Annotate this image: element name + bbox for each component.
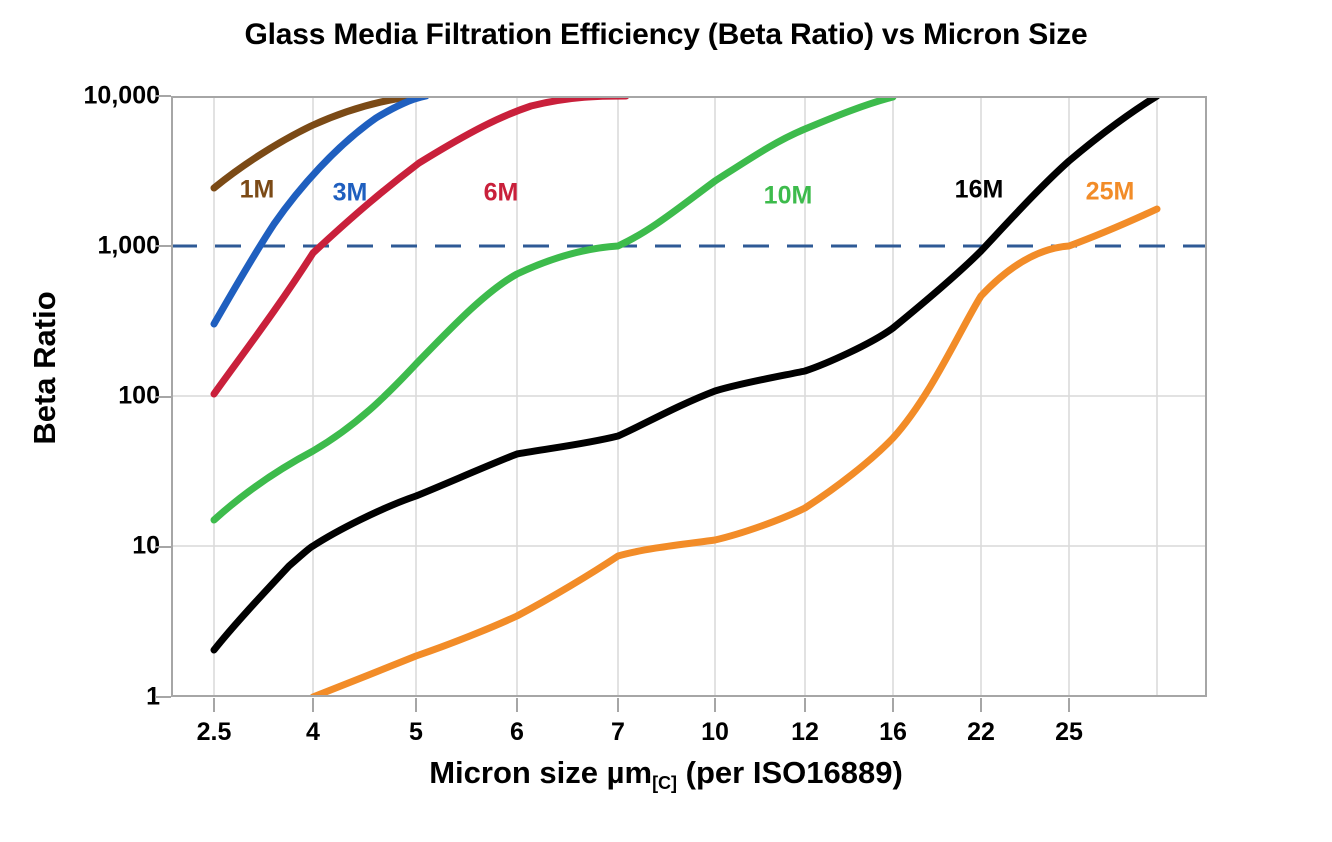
x-tick-label-6: 6 <box>510 718 524 747</box>
x-tickmark-7 <box>617 698 619 712</box>
x-axis-title: Micron size µm[C] (per ISO16889) <box>0 755 1332 794</box>
x-tick-label-12: 12 <box>791 718 819 747</box>
series-label-16m: 16M <box>955 176 1004 205</box>
x-tickmark-4 <box>312 698 314 712</box>
x-axis-title-main: Micron size µm <box>429 755 652 790</box>
x-tick-label-5: 5 <box>409 718 423 747</box>
x-tick-label-2-5: 2.5 <box>197 718 232 747</box>
series-label-25m: 25M <box>1086 178 1135 207</box>
x-tick-label-22: 22 <box>967 718 995 747</box>
y-tickmark-10 <box>155 546 171 548</box>
chart-page: Glass Media Filtration Efficiency (Beta … <box>0 0 1332 842</box>
x-tick-label-25: 25 <box>1055 718 1083 747</box>
x-tickmark-22 <box>980 698 982 712</box>
series-label-1m: 1M <box>240 176 275 205</box>
x-tick-label-16: 16 <box>879 718 907 747</box>
page-title: Glass Media Filtration Efficiency (Beta … <box>0 18 1332 52</box>
y-axis-title: Beta Ratio <box>27 228 63 508</box>
x-tick-label-10: 10 <box>701 718 729 747</box>
plot-area <box>171 96 1207 697</box>
y-tick-10000: 10,000 <box>84 82 160 111</box>
x-tickmark-6 <box>516 698 518 712</box>
y-tickmark-1 <box>155 696 171 698</box>
series-label-6m: 6M <box>484 179 519 208</box>
y-tick-1000: 1,000 <box>97 232 160 261</box>
x-tickmark-5 <box>415 698 417 712</box>
x-tickmark-16 <box>892 698 894 712</box>
plot-frame <box>171 96 1207 697</box>
series-label-10m: 10M <box>764 182 813 211</box>
x-tickmark-25 <box>1068 698 1070 712</box>
x-tick-label-7: 7 <box>611 718 625 747</box>
y-tickmark-10000 <box>155 95 171 97</box>
x-tickmark-10 <box>714 698 716 712</box>
y-tickmark-100 <box>155 396 171 398</box>
x-tick-label-4: 4 <box>306 718 320 747</box>
x-tickmark-2-5 <box>213 698 215 712</box>
x-axis-title-subscript: [C] <box>652 773 677 793</box>
series-label-3m: 3M <box>333 179 368 208</box>
y-tick-100: 100 <box>118 382 160 411</box>
x-tickmark-12 <box>804 698 806 712</box>
y-axis-ticks: 10,000 1,000 100 10 1 <box>0 0 160 842</box>
y-tickmark-1000 <box>155 245 171 247</box>
x-axis-title-tail: (per ISO16889) <box>677 755 903 790</box>
